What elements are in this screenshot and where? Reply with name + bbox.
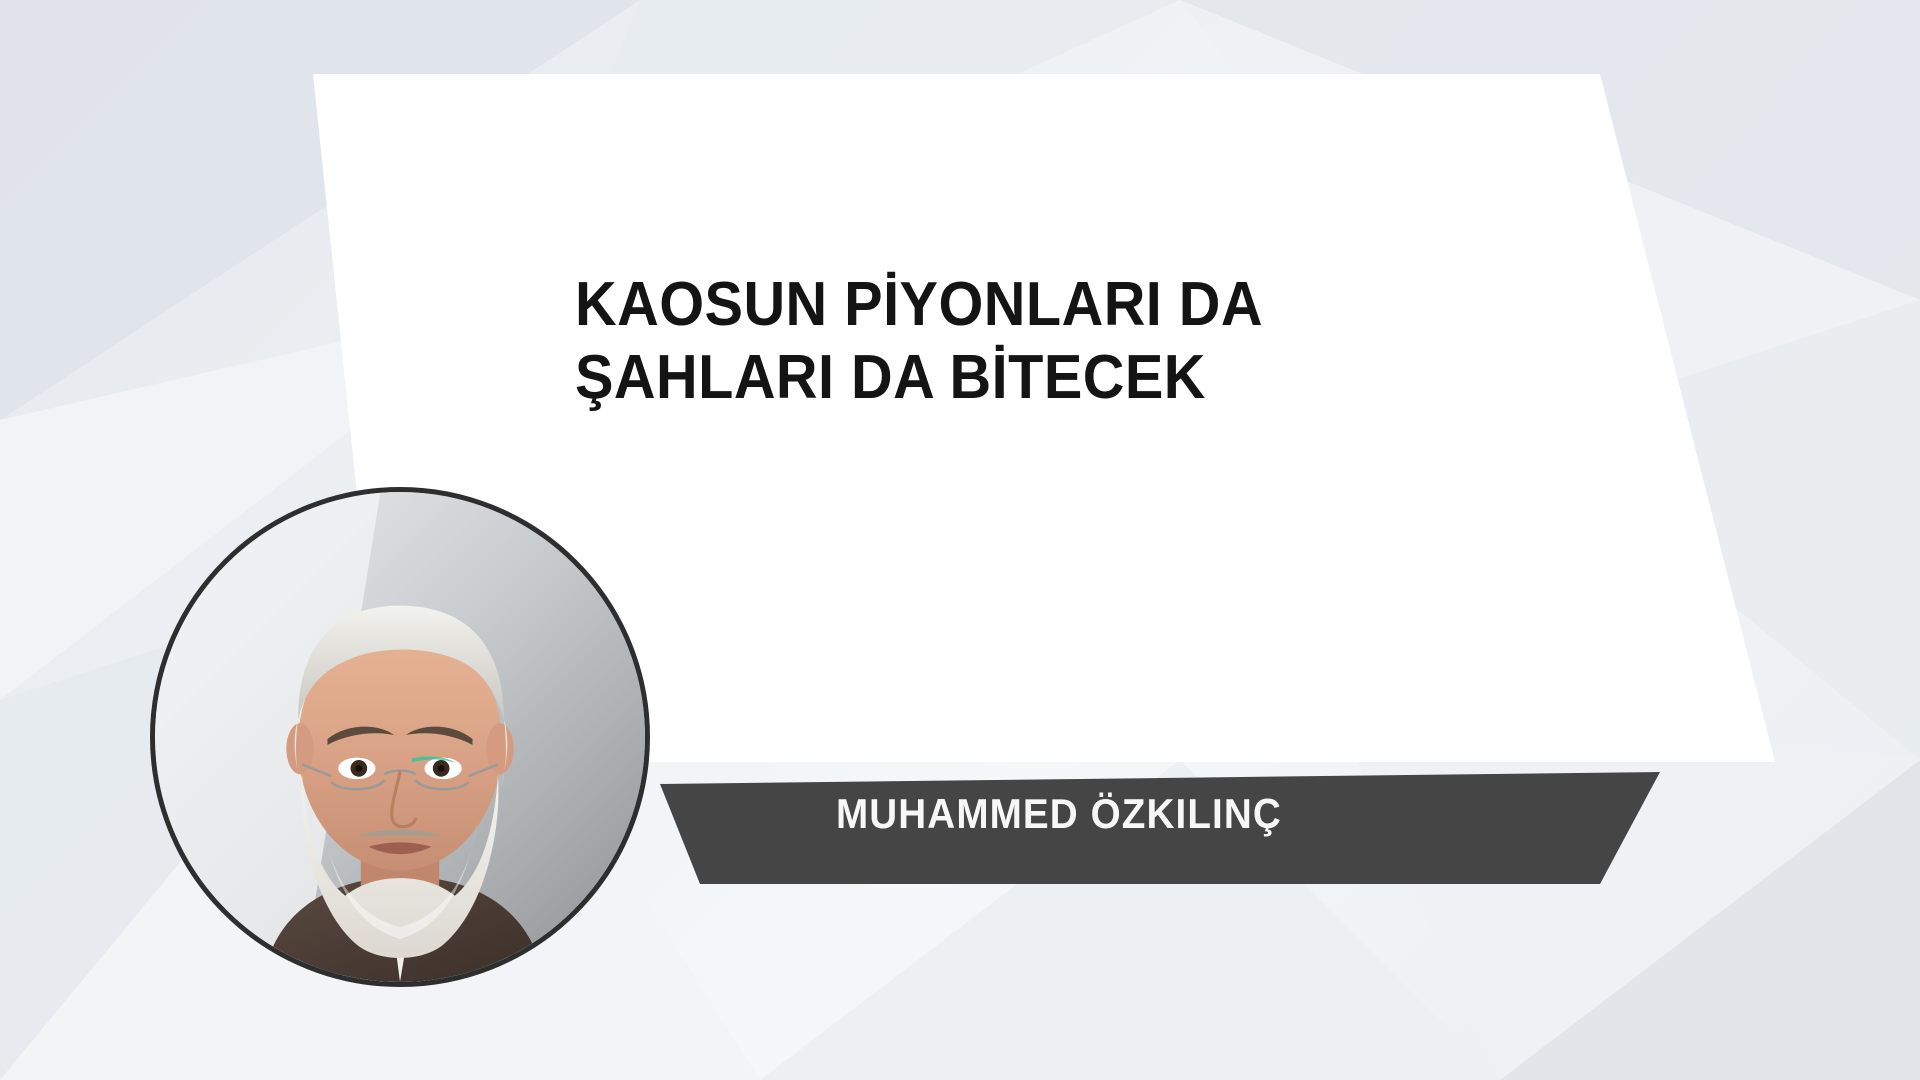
avatar-portrait-illustration — [155, 492, 645, 982]
author-name: MUHAMMED ÖZKILINÇ — [836, 790, 1282, 838]
article-title: KAOSUN PİYONLARI DA ŞAHLARI DA BİTECEK — [575, 268, 1475, 414]
title-line-2: ŞAHLARI DA BİTECEK — [575, 341, 1412, 414]
article-banner: KAOSUN PİYONLARI DA ŞAHLARI DA BİTECEK M… — [0, 0, 1920, 1080]
avatar — [150, 487, 650, 987]
title-line-1: KAOSUN PİYONLARI DA — [575, 268, 1412, 341]
